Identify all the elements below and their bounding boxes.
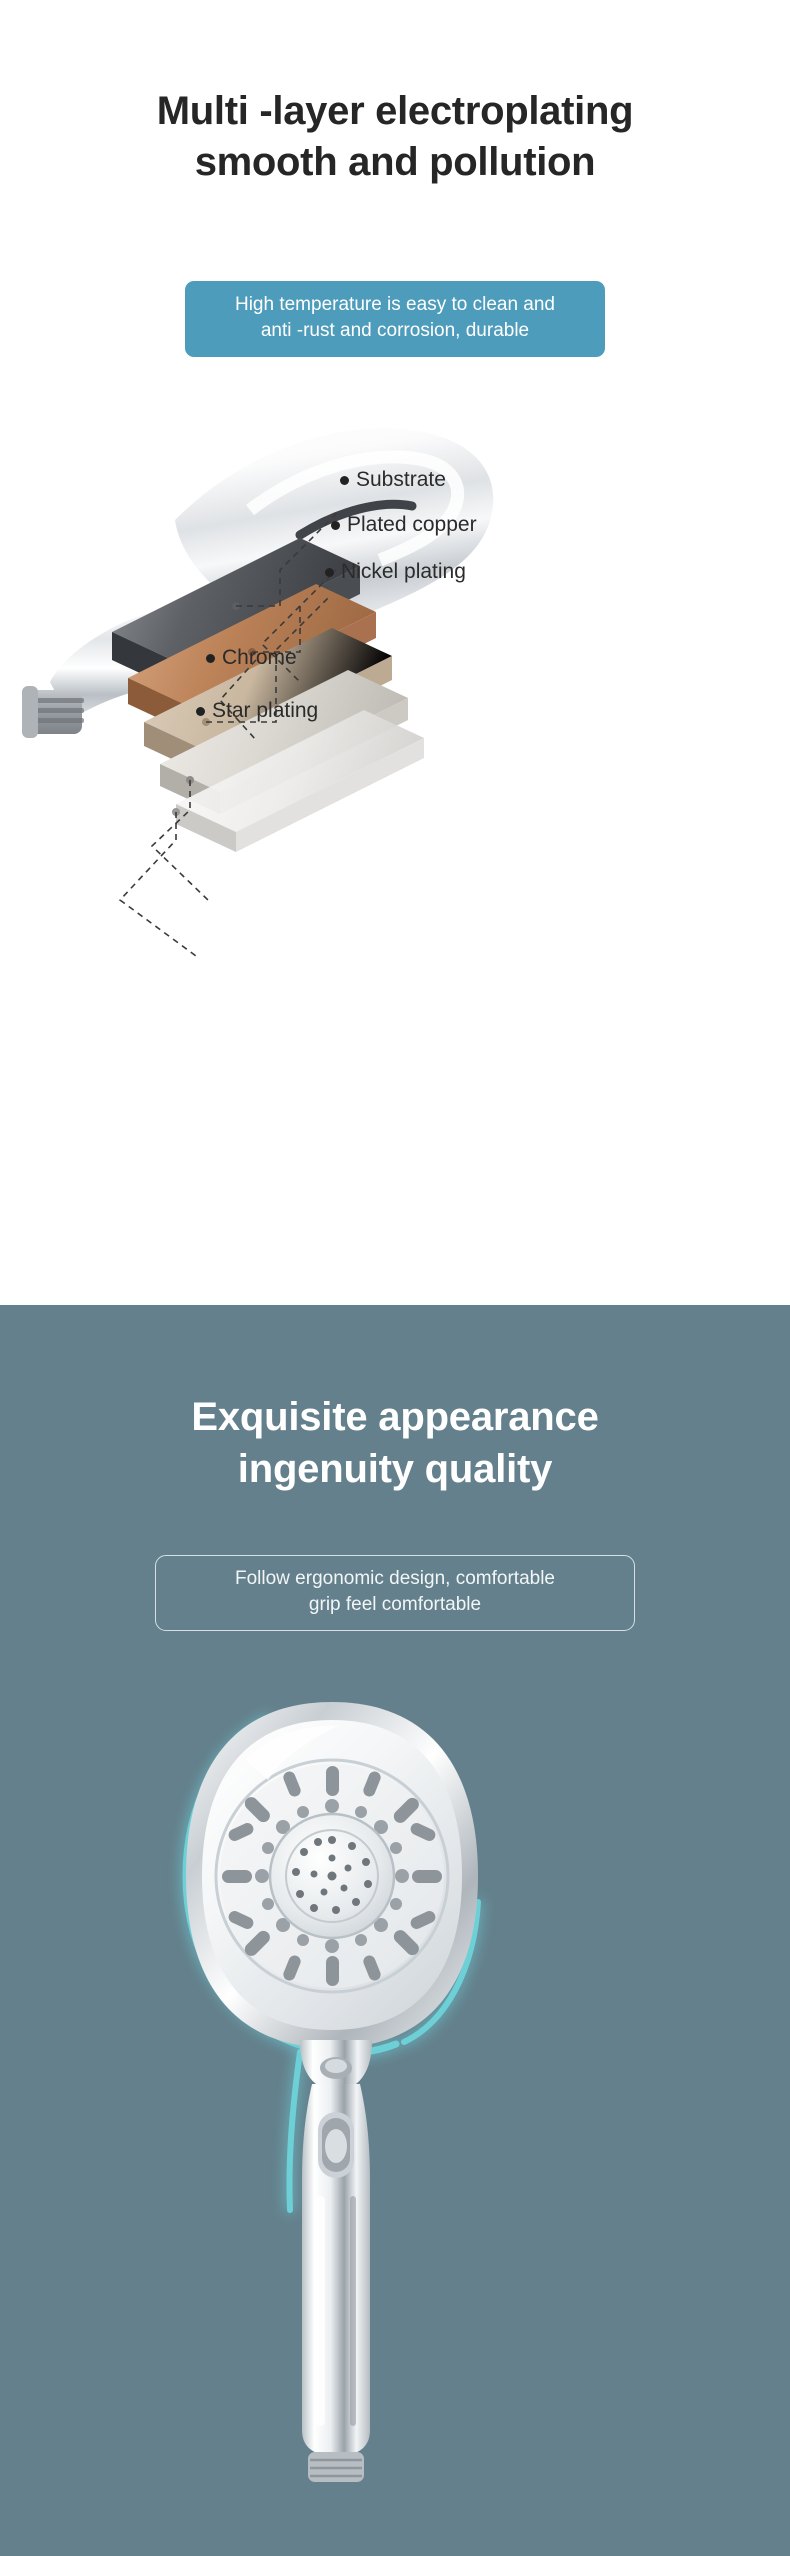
callout-dot-star-plating — [196, 707, 205, 716]
section-one-heading: Multi -layer electroplating smooth and p… — [0, 0, 790, 188]
shower-head-product-image — [0, 1640, 790, 2540]
callout-label-plated-copper: Plated copper — [347, 513, 477, 537]
heading-line-1: Exquisite appearance — [0, 1391, 790, 1443]
section-two-heading: Exquisite appearance ingenuity quality — [0, 1305, 790, 1495]
badge-line-2: anti -rust and corrosion, durable — [203, 318, 587, 344]
section-one-badge: High temperature is easy to clean and an… — [185, 281, 605, 357]
multi-layer-electroplating-section: Multi -layer electroplating smooth and p… — [0, 0, 790, 1305]
heading-line-1: Multi -layer electroplating — [0, 86, 790, 137]
callout-label-chrome: Chrome — [222, 646, 297, 670]
callout-label-nickel-plating: Nickel plating — [341, 560, 466, 584]
badge-line-1: High temperature is easy to clean and — [203, 292, 587, 318]
callout-label-substrate: Substrate — [356, 468, 446, 492]
callout-dot-chrome — [206, 654, 215, 663]
heading-line-2: ingenuity quality — [0, 1443, 790, 1495]
callout-dot-plated-copper — [331, 521, 340, 530]
callout-dot-substrate — [340, 476, 349, 485]
badge-line-2: grip feel comfortable — [174, 1592, 616, 1618]
heading-line-2: smooth and pollution — [0, 137, 790, 188]
callout-dot-nickel-plating — [325, 568, 334, 577]
badge-line-1: Follow ergonomic design, comfortable — [174, 1566, 616, 1592]
cross-section-diagram: Substrate Plated copper Nickel plating C… — [0, 360, 790, 1210]
exquisite-appearance-section: Exquisite appearance ingenuity quality F… — [0, 1305, 790, 2556]
callout-label-star-plating: Star plating — [212, 699, 318, 723]
section-two-badge: Follow ergonomic design, comfortable gri… — [155, 1555, 635, 1631]
